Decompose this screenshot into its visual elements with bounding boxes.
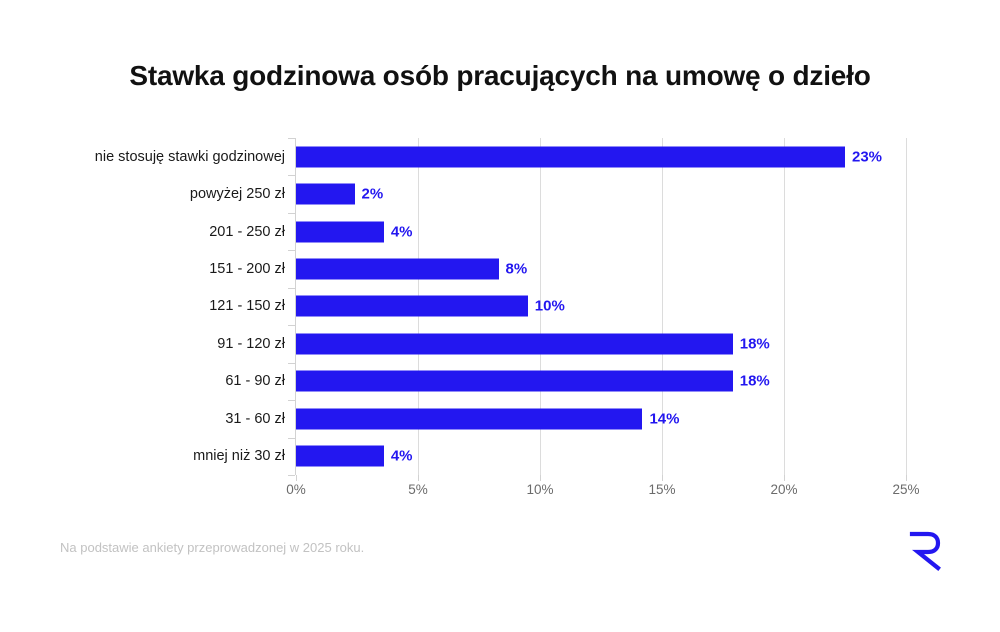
bar[interactable] [296,259,499,280]
bar-row: 61 - 90 zł18% [0,363,1000,400]
bar[interactable] [296,296,528,317]
bar-value-label: 18% [740,335,770,352]
x-axis-tick-label: 5% [408,482,428,497]
category-label: nie stosuję stawki godzinowej [0,149,285,165]
y-axis-tick [288,288,295,289]
x-axis-tick-label: 0% [286,482,306,497]
x-axis-tick [296,475,297,481]
chart-page: Stawka godzinowa osób pracujących na umo… [0,0,1000,632]
bar[interactable] [296,146,845,167]
x-axis-tick [540,475,541,481]
category-label: 61 - 90 zł [0,373,285,389]
y-axis-tick [288,438,295,439]
category-label: mniej niż 30 zł [0,448,285,464]
bar-with-value[interactable]: 18% [296,371,770,392]
x-axis-tick-label: 25% [892,482,919,497]
x-axis-tick-label: 15% [648,482,675,497]
bar-row: mniej niż 30 zł4% [0,438,1000,475]
brand-logo-icon [904,528,946,572]
bar-with-value[interactable]: 14% [296,408,680,429]
category-label: 201 - 250 zł [0,224,285,240]
bar-value-label: 23% [852,148,882,165]
bar-value-label: 10% [535,298,565,315]
bar-value-label: 2% [362,186,384,203]
bar-with-value[interactable]: 8% [296,259,527,280]
chart-plot-area: nie stosuję stawki godzinowej23%powyżej … [0,135,1000,490]
bar-value-label: 14% [649,410,679,427]
category-label: 121 - 150 zł [0,298,285,314]
y-axis-tick [288,363,295,364]
bar-row: 31 - 60 zł14% [0,400,1000,437]
bar-value-label: 4% [391,223,413,240]
chart-title: Stawka godzinowa osób pracujących na umo… [0,60,1000,92]
footer-source-note: Na podstawie ankiety przeprowadzonej w 2… [60,540,364,555]
x-axis-tick [662,475,663,481]
category-label: 151 - 200 zł [0,261,285,277]
bar-row: 201 - 250 zł4% [0,213,1000,250]
y-axis-tick [288,325,295,326]
bar-with-value[interactable]: 10% [296,296,565,317]
y-axis-tick [288,213,295,214]
bar-with-value[interactable]: 23% [296,146,882,167]
category-label: 91 - 120 zł [0,336,285,352]
bar-value-label: 4% [391,448,413,465]
bar[interactable] [296,408,642,429]
bar-with-value[interactable]: 4% [296,221,413,242]
y-axis-tick [288,250,295,251]
bar-with-value[interactable]: 18% [296,333,770,354]
bar-with-value[interactable]: 4% [296,446,413,467]
x-axis-tick [418,475,419,481]
bar-row: 121 - 150 zł10% [0,288,1000,325]
bar[interactable] [296,184,355,205]
bar-with-value[interactable]: 2% [296,184,383,205]
bar[interactable] [296,221,384,242]
bar-row: 91 - 120 zł18% [0,325,1000,362]
bar[interactable] [296,371,733,392]
x-axis-tick [784,475,785,481]
y-axis-tick [288,400,295,401]
category-label: powyżej 250 zł [0,186,285,202]
bar[interactable] [296,333,733,354]
bar-row: powyżej 250 zł2% [0,175,1000,212]
bar-value-label: 8% [506,261,528,278]
x-axis-tick-label: 10% [526,482,553,497]
x-axis-tick [906,475,907,481]
y-axis-tick [288,175,295,176]
x-axis-tick-label: 20% [770,482,797,497]
bar-row: nie stosuję stawki godzinowej23% [0,138,1000,175]
bar[interactable] [296,446,384,467]
bar-value-label: 18% [740,373,770,390]
bar-row: 151 - 200 zł8% [0,250,1000,287]
y-axis-tick [288,475,295,476]
category-label: 31 - 60 zł [0,411,285,427]
y-axis-tick [288,138,295,139]
